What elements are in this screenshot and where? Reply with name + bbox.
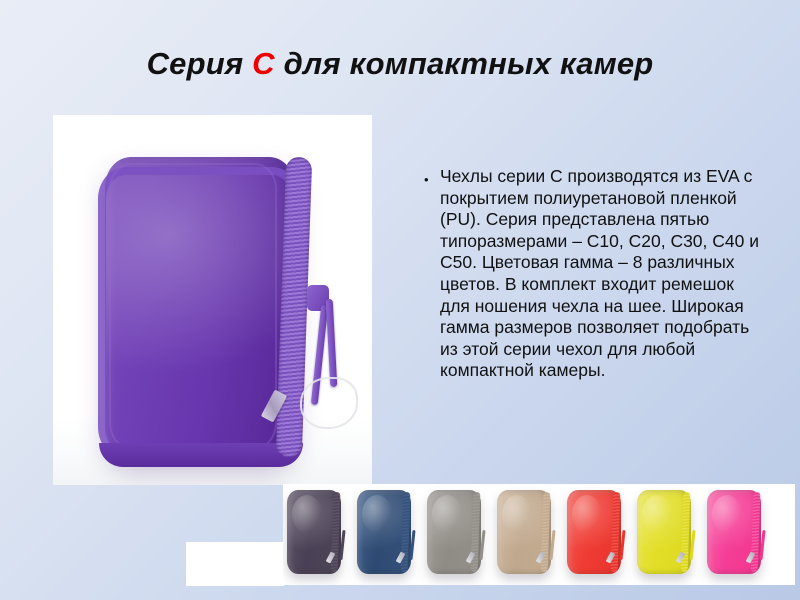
- case-bottom-edge: [99, 443, 303, 467]
- case-thumbnail-beige: [497, 490, 551, 574]
- neck-strap: [300, 377, 358, 429]
- title-accent-letter: C: [252, 46, 275, 81]
- case-thumbnail-dark-purple: [287, 490, 341, 574]
- color-case-row: [283, 484, 795, 585]
- list-item: • Чехлы серии C производятся из EVA с по…: [424, 166, 766, 382]
- purple-case-image: [105, 157, 295, 457]
- case-thumbnail-grey: [427, 490, 481, 574]
- case-highlight: [292, 495, 322, 533]
- title-prefix: Серия: [147, 46, 253, 81]
- case-thumbnail-navy-blue: [357, 490, 411, 574]
- case-front-seam: [109, 163, 277, 449]
- slide-canvas: Серия C для компактных камер • Чехлы сер…: [0, 0, 800, 600]
- case-thumbnail-yellow: [637, 490, 691, 574]
- color-range-photo: [283, 484, 795, 585]
- case-highlight: [432, 495, 462, 533]
- case-thumbnail-red: [567, 490, 621, 574]
- zipper-pull-icon: [326, 299, 338, 387]
- title-suffix: для компактных камер: [275, 46, 654, 81]
- main-product-photo: [53, 115, 372, 485]
- case-highlight: [642, 495, 672, 533]
- case-highlight: [712, 495, 742, 533]
- photo-filler-block: [186, 542, 284, 586]
- page-title: Серия C для компактных камер: [0, 46, 800, 82]
- case-highlight: [362, 495, 392, 533]
- bullet-paragraph: Чехлы серии C производятся из EVA с покр…: [440, 166, 766, 382]
- case-highlight: [502, 495, 532, 533]
- case-thumbnail-pink: [707, 490, 761, 574]
- bullet-icon: •: [424, 166, 440, 186]
- body-text-block: • Чехлы серии C производятся из EVA с по…: [424, 166, 766, 382]
- case-highlight: [572, 495, 602, 533]
